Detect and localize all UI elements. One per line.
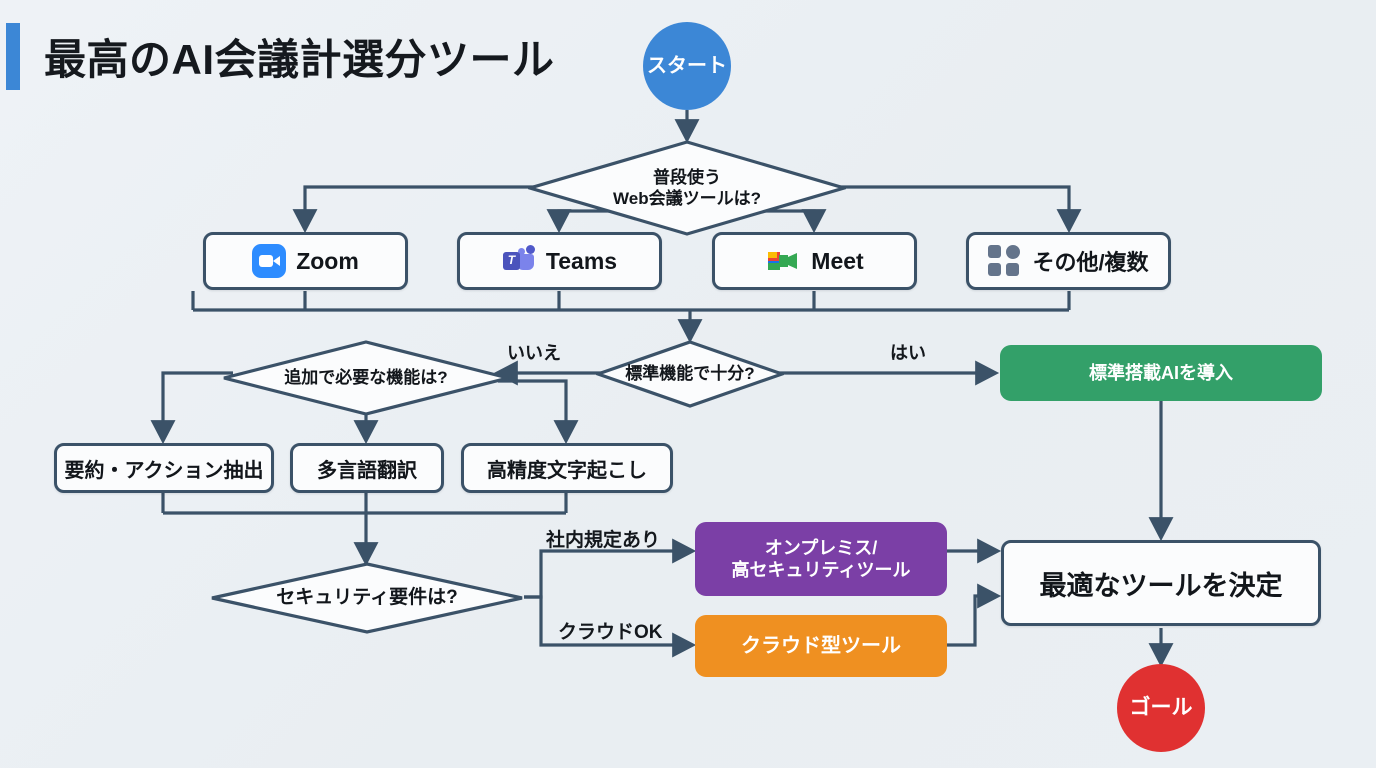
zoom-icon	[252, 244, 286, 278]
decision-extra-features[interactable]: 追加で必要な機能は?	[222, 340, 510, 416]
goal-node-label: ゴール	[1130, 696, 1193, 719]
result-box-onpremise[interactable]: オンプレミス/ 高セキュリティツール	[695, 522, 947, 596]
tool-box-other-label: その他/複数	[1032, 245, 1148, 277]
final-decision-box[interactable]: 最適なツールを決定	[1001, 540, 1321, 626]
tool-box-zoom-label: Zoom	[296, 248, 359, 275]
start-node[interactable]: スタート	[643, 22, 731, 110]
edge-label-no: いいえ	[507, 339, 561, 365]
title-accent-bar	[6, 23, 20, 90]
tool-box-other[interactable]: その他/複数	[966, 232, 1171, 290]
feature-box-summary[interactable]: 要約・アクション抽出	[54, 443, 274, 493]
edge-label-internal-policy: 社内規定あり	[546, 525, 660, 552]
decision-standard-features[interactable]: 標準機能で十分?	[596, 340, 784, 408]
flowchart-canvas: 最高のAI会議計選分ツール スタート 普段使う Web会議ツールは? Zoom …	[0, 0, 1376, 768]
decision-security[interactable]: セキュリティ要件は?	[210, 562, 524, 634]
tool-box-zoom[interactable]: Zoom	[203, 232, 408, 290]
grid-icon	[988, 245, 1022, 277]
feature-box-transcription-label: 高精度文字起こし	[487, 454, 647, 483]
result-box-onpremise-label: オンプレミス/ 高セキュリティツール	[732, 537, 911, 582]
decision-security-label: セキュリティ要件は?	[276, 586, 457, 610]
decision-extra-features-label: 追加で必要な機能は?	[284, 367, 447, 388]
tool-box-meet[interactable]: Meet	[712, 232, 917, 290]
feature-box-transcription[interactable]: 高精度文字起こし	[461, 443, 673, 493]
decision-meeting-tool[interactable]: 普段使う Web会議ツールは?	[528, 140, 846, 236]
start-node-label: スタート	[647, 55, 727, 77]
final-decision-box-label: 最適なツールを決定	[1040, 564, 1283, 603]
feature-box-translation[interactable]: 多言語翻訳	[290, 443, 444, 493]
decision-standard-features-label: 標準機能で十分?	[625, 363, 754, 384]
edge-label-cloud-ok: クラウドOK	[558, 617, 663, 644]
result-box-builtin-ai[interactable]: 標準搭載AIを導入	[1000, 345, 1322, 401]
result-box-cloud-label: クラウド型ツール	[741, 634, 901, 659]
meet-icon	[765, 246, 801, 276]
tool-box-teams[interactable]: Teams	[457, 232, 662, 290]
result-box-cloud[interactable]: クラウド型ツール	[695, 615, 947, 677]
result-box-builtin-ai-label: 標準搭載AIを導入	[1089, 362, 1233, 385]
tool-box-meet-label: Meet	[811, 248, 863, 275]
feature-box-translation-label: 多言語翻訳	[317, 454, 417, 483]
goal-node[interactable]: ゴール	[1117, 664, 1205, 752]
edge-label-yes: はい	[890, 339, 926, 365]
feature-box-summary-label: 要約・アクション抽出	[65, 454, 264, 483]
decision-meeting-tool-label: 普段使う Web会議ツールは?	[613, 167, 761, 210]
teams-icon	[502, 244, 536, 278]
page-title: 最高のAI会議計選分ツール	[44, 26, 555, 87]
tool-box-teams-label: Teams	[546, 248, 617, 275]
